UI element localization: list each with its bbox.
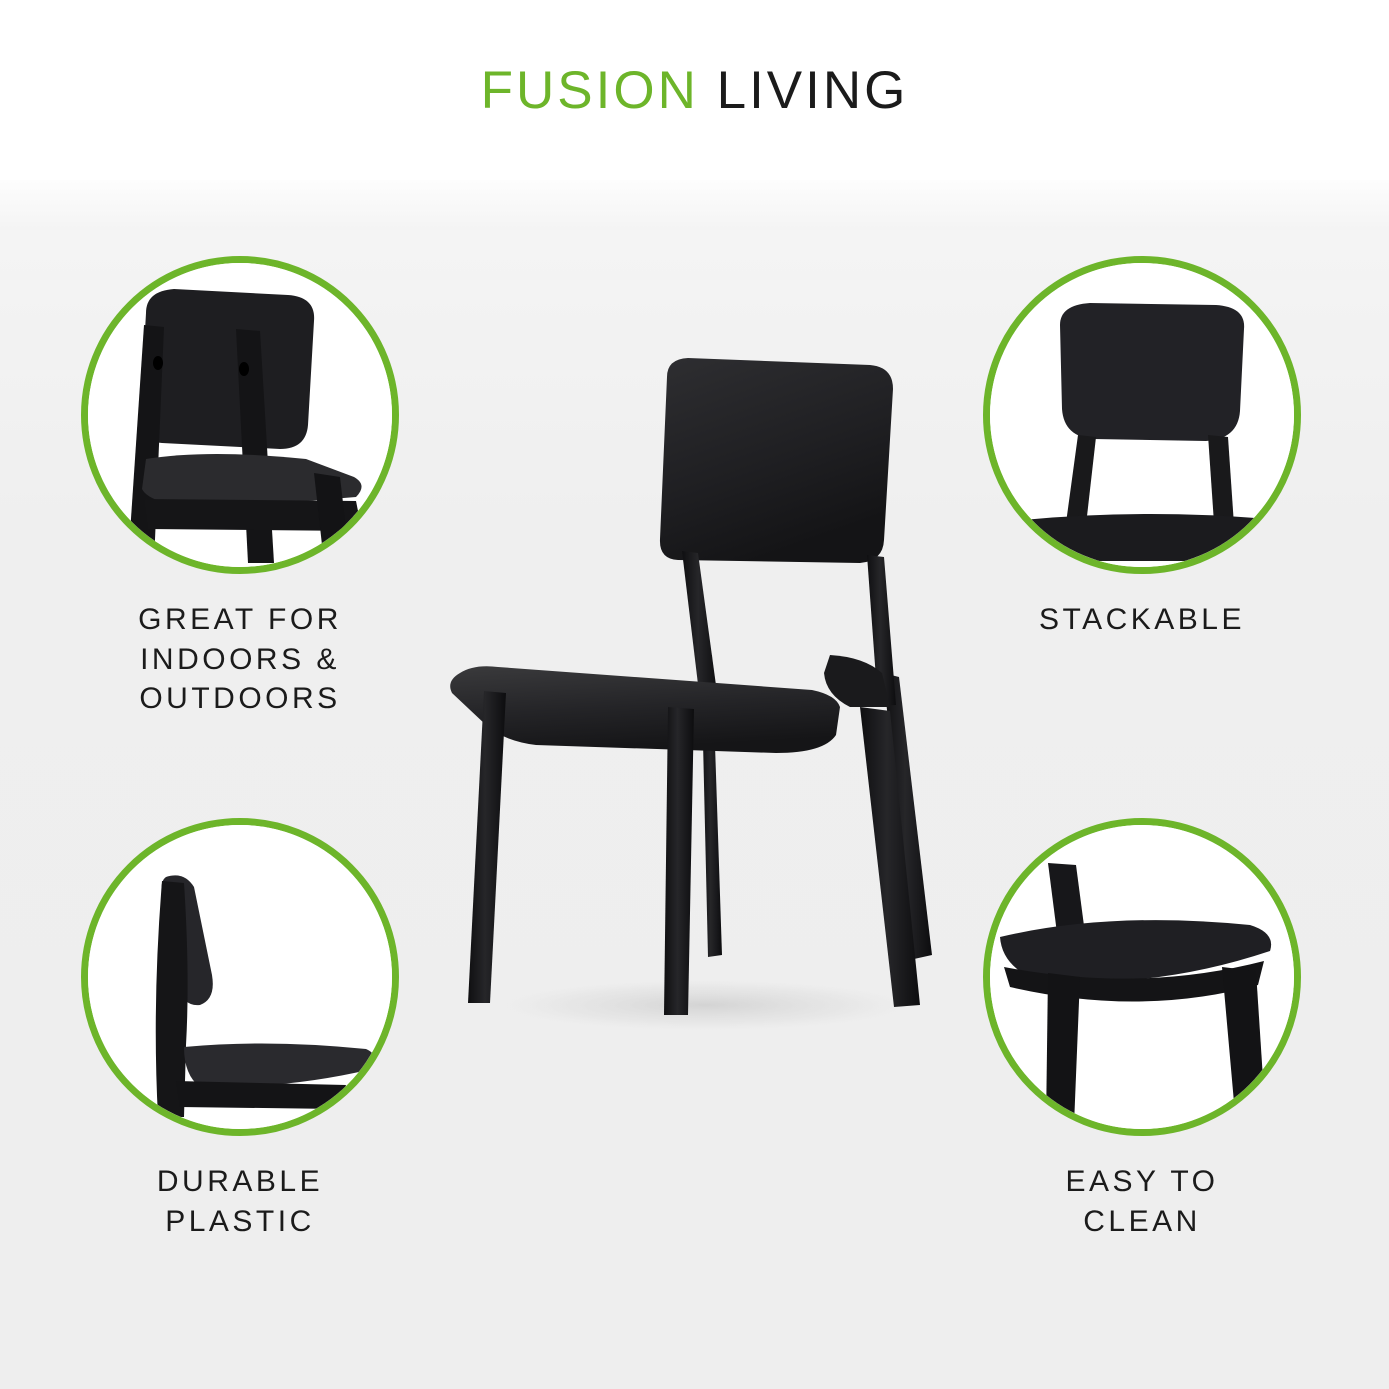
chair-leg-front-center xyxy=(664,707,694,1015)
feature-label-stackable: STACKABLE xyxy=(1039,600,1245,640)
feature-label-easy-to-clean: EASY TO CLEAN xyxy=(1066,1162,1219,1241)
chair-back-strut-left xyxy=(682,551,718,701)
chair-shadow xyxy=(495,979,915,1031)
chair-side-profile-detail-icon xyxy=(88,825,392,1129)
feature-label-durable-plastic: DURABLE PLASTIC xyxy=(157,1162,323,1241)
hero-product-image xyxy=(420,355,980,1075)
brand-name-primary: FUSION xyxy=(481,61,699,120)
chair-illustration xyxy=(420,355,980,1075)
feature-circle-easy-to-clean xyxy=(983,818,1301,1136)
feature-durable-plastic: DURABLE PLASTIC xyxy=(75,818,405,1241)
brand-header: FUSION LIVING xyxy=(0,0,1389,180)
brand-name-secondary: LIVING xyxy=(717,61,909,120)
feature-easy-to-clean: EASY TO CLEAN xyxy=(977,818,1307,1241)
feature-indoors-outdoors: GREAT FOR INDOORS & OUTDOORS xyxy=(75,256,405,719)
chair-seat xyxy=(450,666,840,753)
feature-circle-stackable xyxy=(983,256,1301,574)
feature-circle-durable-plastic xyxy=(81,818,399,1136)
chair-seat-surface-detail-icon xyxy=(990,825,1294,1129)
chair-back-rear-detail-icon xyxy=(88,263,392,567)
chair-leg-front-left xyxy=(468,691,506,1003)
feature-stackable: STACKABLE xyxy=(977,256,1307,640)
feature-circle-indoors-outdoors xyxy=(81,256,399,574)
chair-backrest xyxy=(660,358,893,563)
chair-back-front-detail-icon xyxy=(990,263,1294,567)
product-infographic: FUSION LIVING xyxy=(0,0,1389,1389)
feature-label-indoors-outdoors: GREAT FOR INDOORS & OUTDOORS xyxy=(138,600,342,719)
brand-title: FUSION LIVING xyxy=(481,64,909,117)
